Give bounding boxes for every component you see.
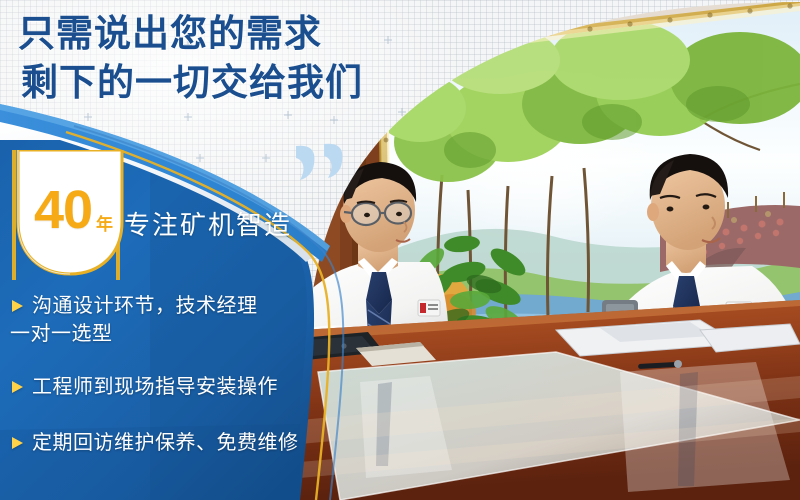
list-item-text: 定期回访维护保养、免费维修	[32, 432, 299, 454]
headline-line-1: 只需说出您的需求	[18, 14, 363, 54]
arrow-triangle-icon	[12, 300, 23, 312]
feature-list: 沟通设计环节，技术经理 一对一选型 工程师到现场指导安装操作 定期回访维护保养、…	[10, 292, 340, 475]
list-item-text: 沟通设计环节，技术经理 一对一选型	[10, 295, 340, 349]
headline: 只需说出您的需求 剩下的一切交给我们	[18, 14, 363, 103]
headline-line-2: 剩下的一切交给我们	[21, 63, 363, 103]
list-item-line-1: 沟通设计环节，技术经理	[32, 295, 258, 317]
list-item: 工程师到现场指导安装操作	[10, 373, 340, 401]
promo-banner: 只需说出您的需求 剩下的一切交给我们	[0, 0, 800, 500]
list-item-line-1: 定期回访维护保养、免费维修	[32, 432, 299, 454]
list-item-line-1: 工程师到现场指导安装操作	[32, 376, 278, 398]
arrow-triangle-icon	[12, 437, 23, 449]
anniversary-badge: 40 年	[12, 150, 128, 285]
badge-number: 40	[34, 183, 92, 237]
tagline: 专注矿机智造	[124, 205, 292, 242]
list-item: 沟通设计环节，技术经理 一对一选型	[10, 292, 340, 349]
arrow-triangle-icon	[12, 381, 23, 393]
list-item-text: 工程师到现场指导安装操作	[32, 376, 278, 398]
list-item: 定期回访维护保养、免费维修	[10, 429, 340, 457]
badge-unit: 年	[96, 216, 113, 233]
quote-mark-icon	[292, 140, 348, 184]
list-item-line-2: 一对一选型	[10, 320, 340, 348]
